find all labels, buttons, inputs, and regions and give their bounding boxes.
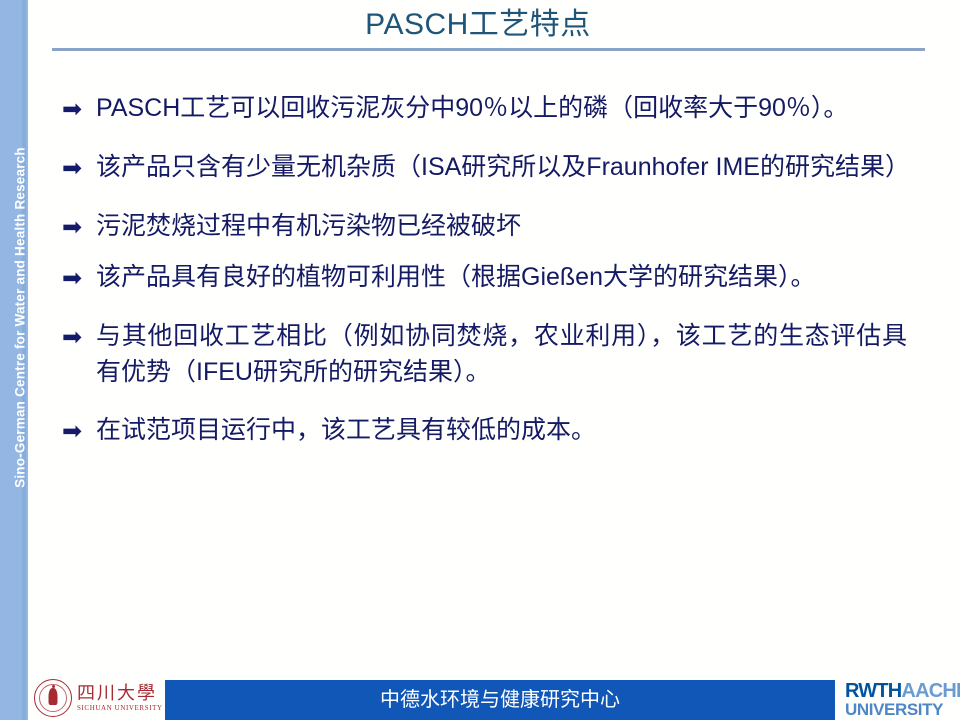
rwth-primary-text: RWTH [845, 680, 901, 702]
list-item-text: PASCH工艺可以回收污泥灰分中90％以上的磷（回收率大于90％）。 [96, 90, 907, 126]
slide-footer: 四川大學 SICHUAN UNIVERSITY 中德水环境与健康研究中心 RWT… [0, 672, 960, 720]
slide-canvas: Sino-German Centre for Water and Health … [0, 0, 960, 720]
list-item-text: 在试范项目运行中，该工艺具有较低的成本。 [96, 412, 907, 448]
seal-bell-glyph [49, 688, 58, 705]
rwth-wordmark-line1: RWTHAACHEN [845, 681, 957, 701]
rwth-secondary-text: AACHEN [901, 680, 960, 702]
footer-banner: 中德水环境与健康研究中心 [165, 680, 835, 720]
sichuan-university-wordmark: 四川大學 SICHUAN UNIVERSITY [77, 683, 163, 713]
page-title: PASCH工艺特点 [28, 8, 928, 41]
arrow-bullet-icon: ➡ [62, 90, 96, 127]
rwth-aachen-university-logo: RWTHAACHEN UNIVERSITY [845, 680, 957, 720]
footer-banner-text: 中德水环境与健康研究中心 [165, 680, 835, 720]
list-item-text: 该产品具有良好的植物可利用性（根据Gießen大学的研究结果）。 [96, 259, 907, 295]
list-item: ➡ 与其他回收工艺相比（例如协同焚烧，农业利用），该工艺的生态评估具有优势（IF… [62, 318, 907, 390]
arrow-bullet-icon: ➡ [62, 149, 96, 186]
list-item: ➡ 该产品具有良好的植物可利用性（根据Gießen大学的研究结果）。 [62, 259, 907, 296]
sichuan-university-seal-icon [34, 679, 72, 717]
scu-chinese-name: 四川大學 [77, 683, 163, 703]
list-item-text: 与其他回收工艺相比（例如协同焚烧，农业利用），该工艺的生态评估具有优势（IFEU… [96, 318, 907, 390]
sichuan-university-logo: 四川大學 SICHUAN UNIVERSITY [34, 678, 166, 718]
arrow-bullet-icon: ➡ [62, 412, 96, 449]
scu-english-name: SICHUAN UNIVERSITY [77, 703, 163, 713]
arrow-bullet-icon: ➡ [62, 318, 96, 355]
sidebar-brand-strip: Sino-German Centre for Water and Health … [0, 0, 28, 720]
bullet-list: ➡ PASCH工艺可以回收污泥灰分中90％以上的磷（回收率大于90％）。 ➡ 该… [62, 90, 907, 650]
rwth-wordmark-line2: UNIVERSITY [845, 701, 957, 719]
sidebar-vertical-label: Sino-German Centre for Water and Health … [13, 8, 28, 628]
list-item-text: 该产品只含有少量无机杂质（ISA研究所以及Fraunhofer IME的研究结果… [96, 149, 907, 185]
list-item: ➡ 在试范项目运行中，该工艺具有较低的成本。 [62, 412, 907, 449]
title-divider [52, 48, 925, 51]
list-item: ➡ 该产品只含有少量无机杂质（ISA研究所以及Fraunhofer IME的研究… [62, 149, 907, 186]
list-item-text: 污泥焚烧过程中有机污染物已经被破坏 [96, 208, 907, 244]
list-item: ➡ PASCH工艺可以回收污泥灰分中90％以上的磷（回收率大于90％）。 [62, 90, 907, 127]
arrow-bullet-icon: ➡ [62, 208, 96, 245]
arrow-bullet-icon: ➡ [62, 259, 96, 296]
list-item: ➡ 污泥焚烧过程中有机污染物已经被破坏 [62, 208, 907, 245]
